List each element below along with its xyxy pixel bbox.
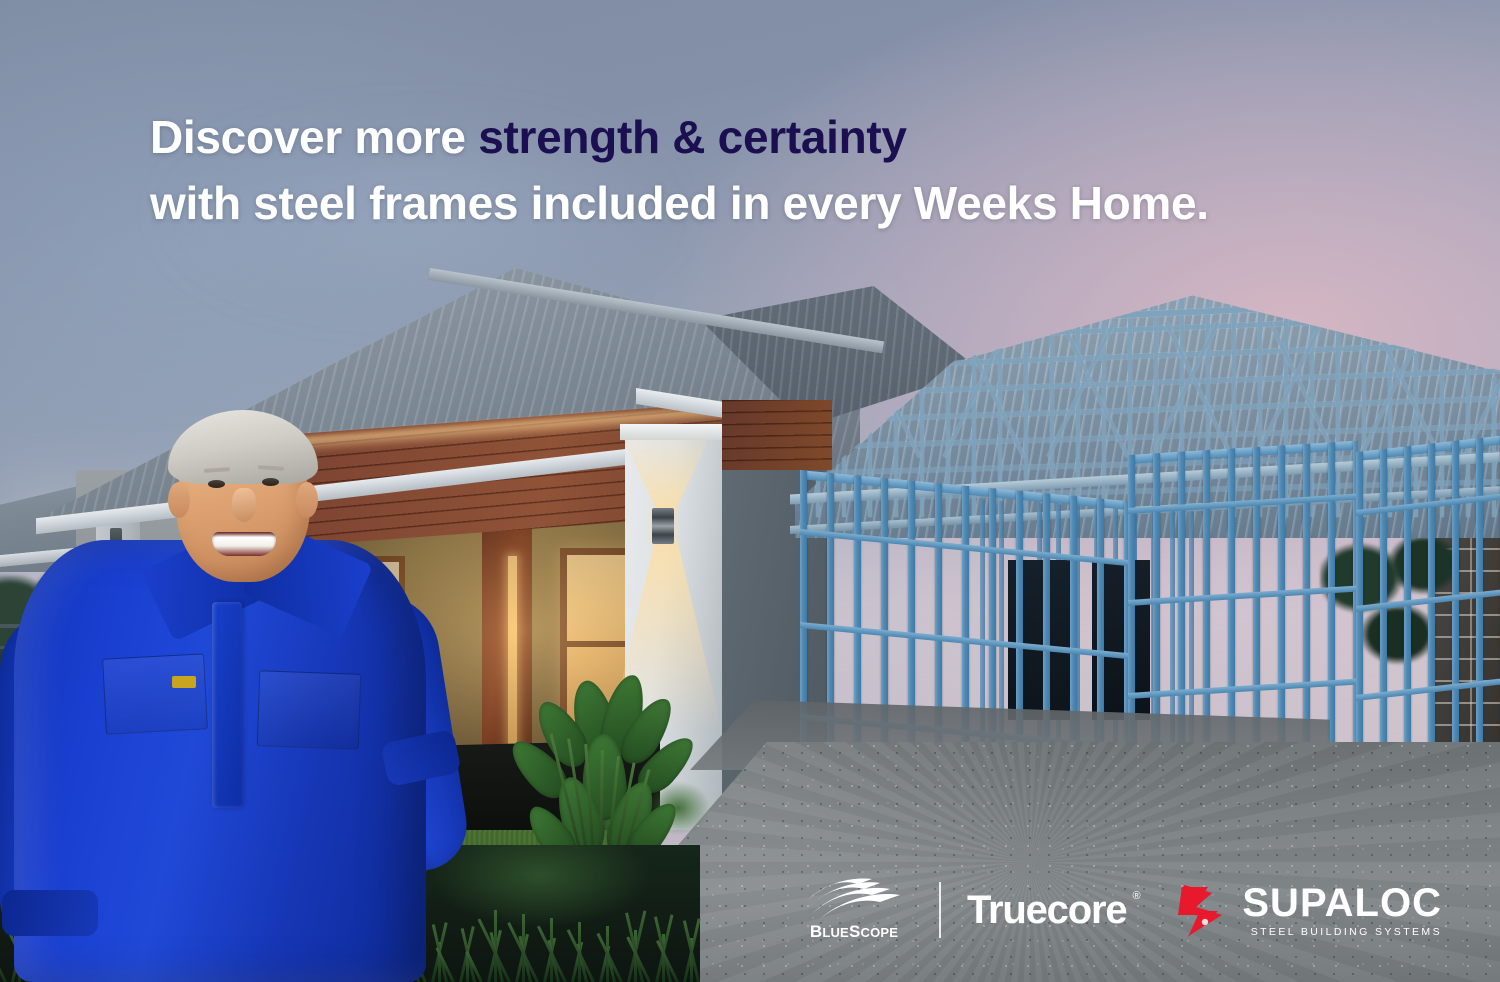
bluescope-word-b: B	[810, 922, 822, 941]
bluescope-word-s: S	[849, 922, 861, 941]
partner-logo-bar: BLUESCOPE Truecore® SUPALOC STEEL BUILDI…	[795, 870, 1442, 950]
truecore-logo[interactable]: Truecore®	[967, 888, 1126, 933]
page-title: Discover more strength & certainty with …	[150, 104, 1209, 236]
bluescope-wordmark: BLUESCOPE	[810, 922, 898, 942]
headline-line-2: with steel frames included in every Week…	[150, 170, 1209, 236]
advertising-banner: Discover more strength & certainty with …	[0, 0, 1500, 982]
presenter-ear-left	[168, 482, 190, 518]
supaloc-wordmark: SUPALOC	[1242, 883, 1442, 923]
headline-line-1-prefix: Discover more	[150, 111, 478, 163]
presenter-shirt-brand-tag	[172, 676, 196, 688]
presenter-shirt-placket	[212, 602, 242, 808]
bluescope-word-lue: LUE	[822, 925, 849, 940]
steel-wall-frame-right-face	[1356, 435, 1500, 772]
supaloc-tagline: STEEL BUILDING SYSTEMS	[1242, 926, 1442, 938]
pillar-wall-light	[652, 508, 674, 544]
headline-line-1: Discover more strength & certainty	[150, 104, 1209, 170]
presenter-shirt-pocket-left	[102, 653, 208, 734]
supaloc-logo[interactable]: SUPALOC STEEL BUILDING SYSTEMS	[1178, 881, 1442, 939]
presenter-ear-right	[296, 482, 318, 518]
presenter-figure	[0, 404, 500, 982]
supaloc-text-block: SUPALOC STEEL BUILDING SYSTEMS	[1242, 883, 1442, 938]
headline-accent: strength & certainty	[478, 111, 907, 163]
logo-divider	[939, 882, 941, 938]
bluescope-logo[interactable]: BLUESCOPE	[795, 878, 913, 942]
presenter-smile	[212, 532, 276, 556]
presenter-shirt-pocket-right	[257, 670, 362, 750]
right-timber-cladding	[722, 400, 832, 480]
presenter-hair	[168, 410, 318, 484]
presenter-cuff-left	[2, 890, 98, 936]
presenter-eye-left	[208, 480, 225, 488]
presenter-eye-right	[262, 478, 279, 486]
presenter-nose	[232, 488, 256, 522]
bluescope-ribbon-icon	[806, 878, 902, 920]
truecore-wordmark: Truecore	[967, 888, 1126, 932]
bluescope-word-cope: COPE	[860, 925, 898, 940]
truecore-registered-mark: ®	[1132, 890, 1139, 902]
supaloc-lightning-icon	[1178, 881, 1238, 939]
